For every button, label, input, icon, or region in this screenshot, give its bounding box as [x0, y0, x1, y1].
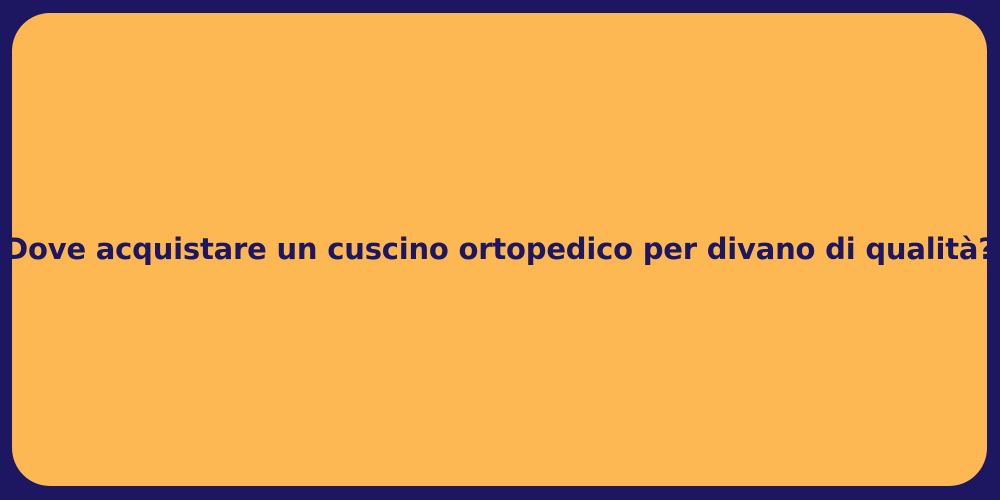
page-title: Dove acquistare un cuscino ortopedico pe… — [12, 231, 987, 267]
banner-card: Dove acquistare un cuscino ortopedico pe… — [12, 13, 987, 486]
banner-frame: Dove acquistare un cuscino ortopedico pe… — [0, 0, 1000, 500]
